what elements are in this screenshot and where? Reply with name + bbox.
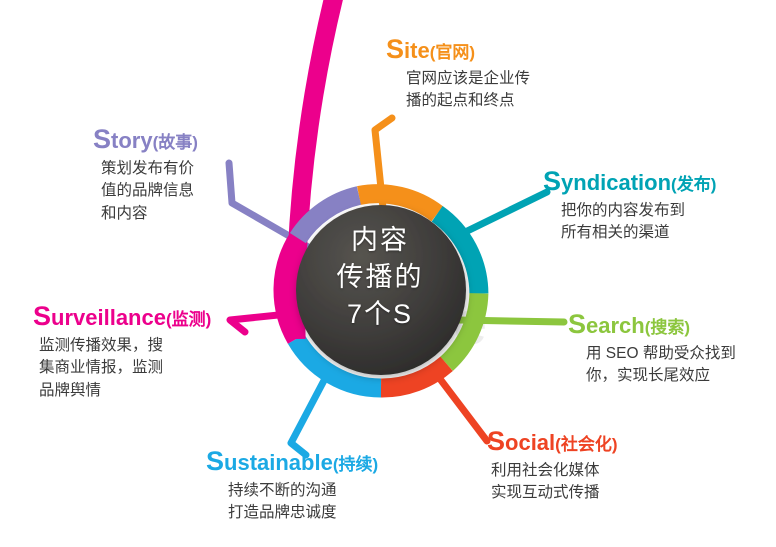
- label-site[interactable]: Site(官网) 官网应该是企业传 播的起点和终点: [386, 36, 530, 113]
- label-surveillance[interactable]: Surveillance(监测) 监测传播效果，搜 集商业情报，监测 品牌舆情: [33, 303, 211, 402]
- label-social-word: ocial: [505, 430, 555, 455]
- label-sustainable-cn: (持续): [333, 455, 378, 474]
- label-search[interactable]: Search(搜索) 用 SEO 帮助受众找到 你，实现长尾效应: [568, 311, 736, 388]
- leader-line-social: [434, 371, 487, 441]
- label-search-description: 用 SEO 帮助受众找到 你，实现长尾效应: [586, 343, 736, 388]
- label-site-word: ite: [404, 38, 430, 63]
- label-surveillance-initial: S: [33, 301, 51, 331]
- label-surveillance-word: urveillance: [51, 305, 166, 330]
- label-search-cn: (搜索): [645, 318, 690, 337]
- label-search-title: Search(搜索): [568, 311, 736, 338]
- label-syndication-description: 把你的内容发布到 所有相关的渠道: [561, 200, 716, 245]
- label-search-initial: S: [568, 309, 586, 339]
- label-sustainable-title: Sustainable(持续): [206, 448, 378, 475]
- center-circle: [296, 205, 466, 375]
- label-sustainable-description: 持续不断的沟通 打造品牌忠诚度: [228, 480, 378, 525]
- label-social-cn: (社会化): [555, 435, 617, 454]
- label-surveillance-cn: (监测): [166, 310, 211, 329]
- label-syndication-cn: (发布): [671, 175, 716, 194]
- leader-line-sustainable: [291, 371, 329, 455]
- label-surveillance-description: 监测传播效果，搜 集商业情报，监测 品牌舆情: [39, 335, 211, 402]
- leader-line-syndication: [455, 192, 547, 237]
- label-story-cn: (故事): [153, 133, 198, 152]
- label-story-initial: S: [93, 124, 111, 154]
- label-social-initial: S: [487, 426, 505, 456]
- label-site-description: 官网应该是企业传 播的起点和终点: [406, 68, 530, 113]
- label-story-description: 策划发布有价 值的品牌信息 和内容: [101, 158, 198, 225]
- label-story-word: tory: [111, 128, 153, 153]
- label-sustainable-initial: S: [206, 446, 224, 476]
- label-syndication-initial: S: [543, 166, 561, 196]
- label-story[interactable]: Story(故事) 策划发布有价 值的品牌信息 和内容: [93, 126, 198, 225]
- label-social-title: Social(社会化): [487, 428, 617, 455]
- label-syndication[interactable]: Syndication(发布) 把你的内容发布到 所有相关的渠道: [543, 168, 716, 245]
- label-sustainable[interactable]: Sustainable(持续) 持续不断的沟通 打造品牌忠诚度: [206, 448, 378, 525]
- label-syndication-title: Syndication(发布): [543, 168, 716, 195]
- label-sustainable-word: ustainable: [224, 450, 333, 475]
- label-story-title: Story(故事): [93, 126, 198, 153]
- label-site-title: Site(官网): [386, 36, 530, 63]
- diagram-canvas: ife: [0, 0, 776, 547]
- label-search-word: earch: [586, 313, 645, 338]
- label-social[interactable]: Social(社会化) 利用社会化媒体 实现互动式传播: [487, 428, 617, 505]
- label-social-description: 利用社会化媒体 实现互动式传播: [491, 460, 617, 505]
- label-site-cn: (官网): [430, 43, 475, 62]
- label-syndication-word: yndication: [561, 170, 671, 195]
- label-surveillance-title: Surveillance(监测): [33, 303, 211, 330]
- label-site-initial: S: [386, 34, 404, 64]
